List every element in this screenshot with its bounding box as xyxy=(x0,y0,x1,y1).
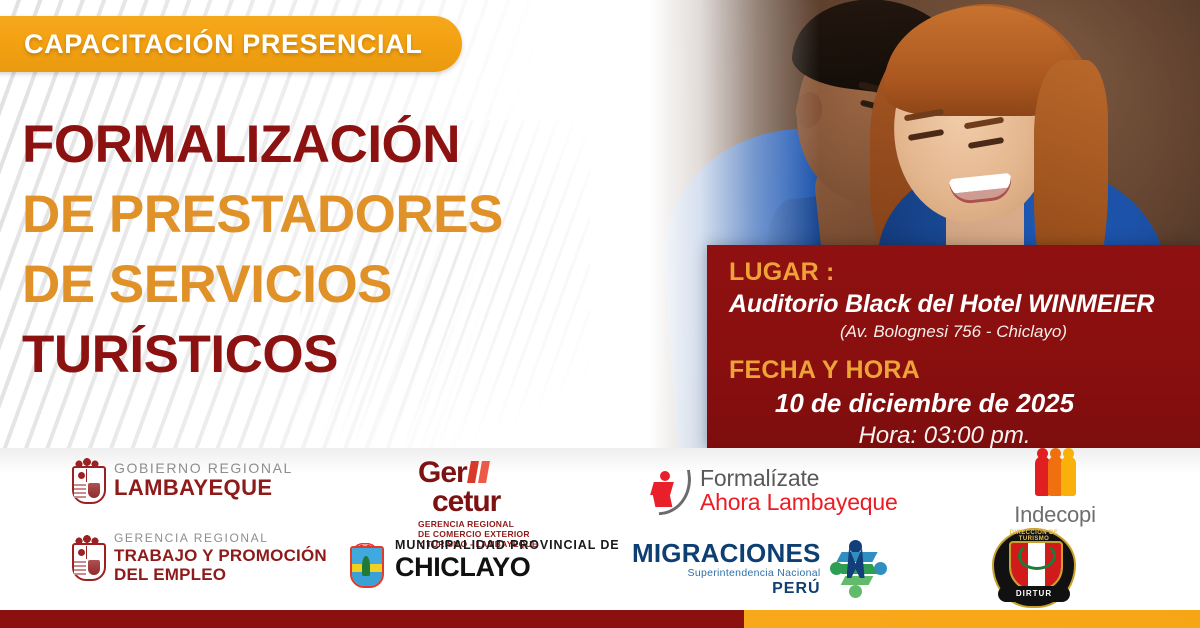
logo-gobierno-regional: GOBIERNO REGIONAL LAMBAYEQUE xyxy=(70,458,293,502)
chiclayo-line-1: MUNICIPALIDAD PROVINCIAL DE xyxy=(395,538,620,553)
date-value: 10 de diciembre de 2025 xyxy=(729,386,1178,420)
event-details-panel: LUGAR : Auditorio Black del Hotel WINMEI… xyxy=(707,245,1200,448)
title-line-2: DE PRESTADORES xyxy=(22,180,503,250)
trabajo-line-2: TRABAJO Y PROMOCIÓN xyxy=(114,546,327,565)
gercetur-sub-1: GERENCIA REGIONAL xyxy=(418,519,568,529)
formalizate-line-1: Formalízate xyxy=(700,466,898,490)
gobierno-line-2: LAMBAYEQUE xyxy=(114,476,293,500)
migraciones-line-1: MIGRACIONES xyxy=(632,540,821,567)
bottom-bar-left xyxy=(0,610,744,628)
promotional-banner: CAPACITACIÓN PRESENCIAL FORMALIZACIÓN DE… xyxy=(0,0,1200,628)
logo-chiclayo: MUNICIPALIDAD PROVINCIAL DE CHICLAYO xyxy=(345,534,620,586)
page-title: FORMALIZACIÓN DE PRESTADORES DE SERVICIO… xyxy=(22,110,503,390)
badge-label: CAPACITACIÓN PRESENCIAL xyxy=(24,29,422,60)
lambayeque-shield-icon xyxy=(70,535,104,579)
title-line-1: FORMALIZACIÓN xyxy=(22,110,503,180)
formalizate-line-2: Ahora Lambayeque xyxy=(700,490,898,515)
indecopi-label: Indecopi xyxy=(995,502,1115,528)
chiclayo-shield-icon xyxy=(345,534,385,586)
migraciones-people-icon xyxy=(827,540,889,598)
logo-formalizate: Formalízate Ahora Lambayeque xyxy=(650,466,898,515)
running-figure-icon xyxy=(650,468,694,514)
title-line-4: TURÍSTICOS xyxy=(22,320,503,390)
lambayeque-shield-icon xyxy=(70,458,104,502)
gercetur-slash-icon xyxy=(469,461,488,483)
logo-indecopi: Indecopi xyxy=(995,452,1115,528)
logo-dirtur: DIRECCIÓN DE TURISMO DIRTUR xyxy=(992,528,1076,608)
date-label: FECHA Y HORA xyxy=(729,355,1178,386)
place-label: LUGAR : xyxy=(729,257,1178,288)
gercetur-word-1: Ger xyxy=(418,458,467,487)
place-value: Auditorio Black del Hotel WINMEIER xyxy=(729,288,1178,320)
logo-migraciones: MIGRACIONES Superintendencia Nacional PE… xyxy=(632,540,889,598)
capacitacion-badge: CAPACITACIÓN PRESENCIAL xyxy=(0,16,462,72)
gercetur-word-2: cetur xyxy=(432,487,568,516)
migraciones-line-2: Superintendencia Nacional xyxy=(632,567,821,580)
indecopi-figures-icon xyxy=(995,452,1115,498)
title-line-3: DE SERVICIOS xyxy=(22,250,503,320)
bottom-bar-right xyxy=(744,610,1200,628)
trabajo-line-1: GERENCIA REGIONAL xyxy=(114,530,327,546)
migraciones-line-3: PERÚ xyxy=(632,580,821,598)
gobierno-line-1: GOBIERNO REGIONAL xyxy=(114,460,293,476)
place-address: (Av. Bolognesi 756 - Chiclayo) xyxy=(729,320,1178,344)
logo-gerencia-trabajo: GERENCIA REGIONAL TRABAJO Y PROMOCIÓN DE… xyxy=(70,530,327,584)
trabajo-line-3: DEL EMPLEO xyxy=(114,565,327,584)
chiclayo-line-2: CHICLAYO xyxy=(395,553,620,582)
dirtur-band-text: DIRTUR xyxy=(998,586,1070,602)
